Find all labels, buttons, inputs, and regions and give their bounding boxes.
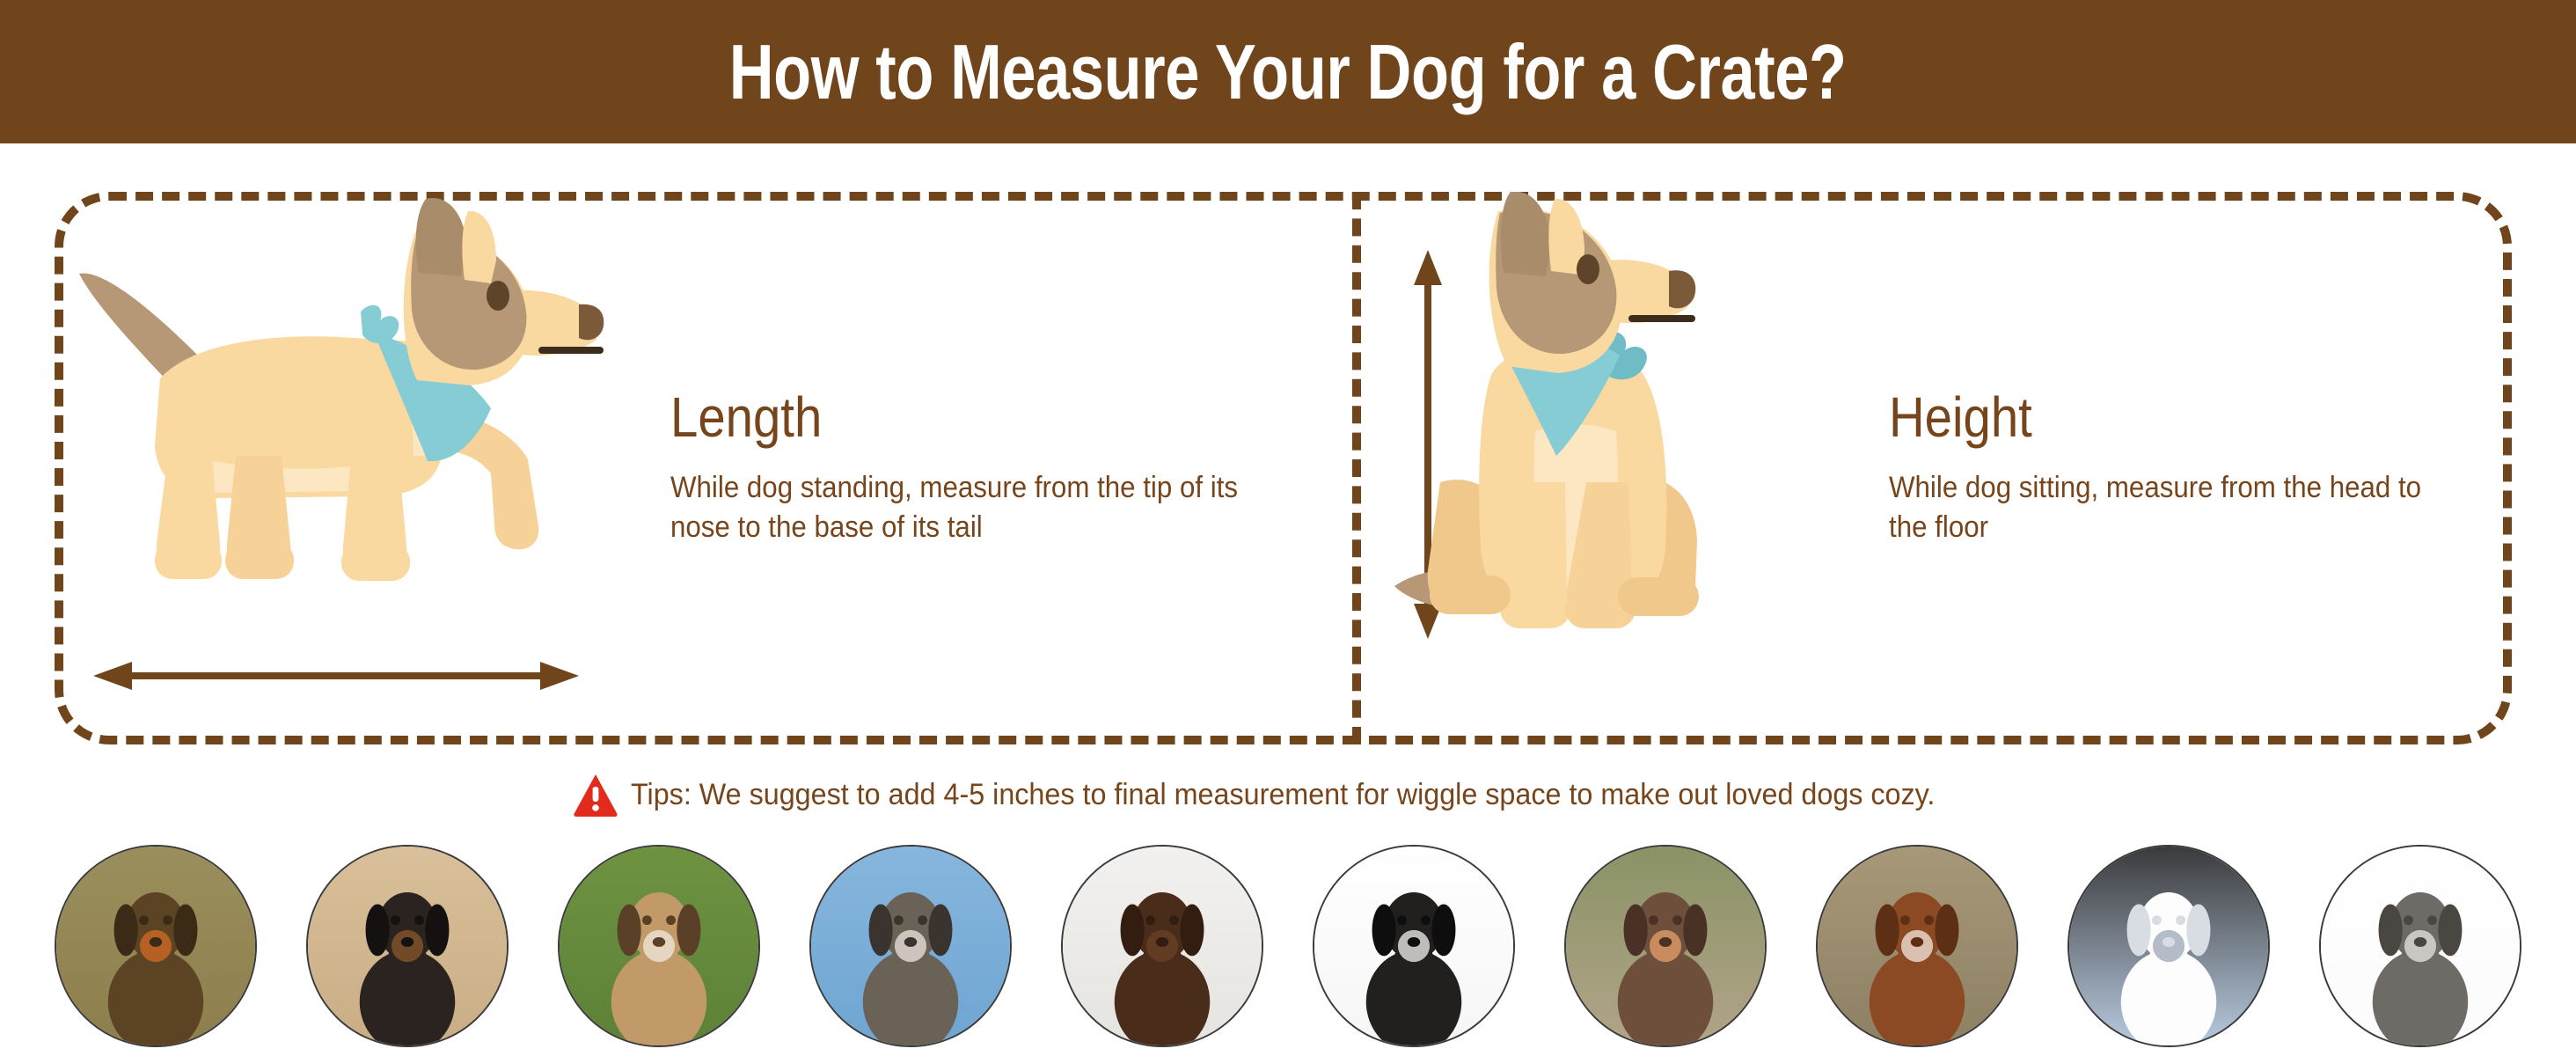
length-text-block: Length While dog standing, measure from … [670,192,1357,744]
sitting-dog-illustration [1379,192,1766,744]
tips-row: Tips: We suggest to add 4-5 inches to fi… [0,773,2576,817]
length-description: While dog standing, measure from the tip… [670,468,1302,547]
photo-circle-black-and-tan-coonhound[interactable] [306,845,509,1047]
warning-triangle-icon [573,773,618,817]
height-description: While dog sitting, measure from the head… [1889,468,2455,547]
photo-circle-american-pit-bull-terrier[interactable] [1816,845,2018,1047]
measurement-panel-height: Height While dog sitting, measure from t… [1361,192,2512,744]
photo-circle-american-eskimo-dog[interactable] [2067,845,2270,1047]
photo-circle-beagle[interactable] [558,845,760,1047]
photo-circle-chesapeake-bay-retriever[interactable] [1564,845,1767,1047]
photo-circle-boston-terrier[interactable] [1313,845,1515,1047]
dog-breed-photo-strip[interactable] [0,845,2576,1056]
photo-circle-great-dane[interactable] [2319,845,2521,1047]
length-heading: Length [670,389,1274,445]
photo-circle-american-water-spaniel[interactable] [1061,845,1263,1047]
page-header: How to Measure Your Dog for a Crate? [0,0,2576,143]
height-heading: Height [1889,389,2431,445]
height-text-block: Height While dog sitting, measure from t… [1889,192,2505,744]
page-title: How to Measure Your Dog for a Crate? [729,33,1847,111]
tips-text: Tips: We suggest to add 4-5 inches to fi… [631,780,1935,810]
photo-circle-plott-hound[interactable] [55,845,257,1047]
horizontal-double-arrow-icon [90,658,582,693]
photo-circle-alaskan-malamute[interactable] [809,845,1012,1047]
measurement-panel-length: Length While dog standing, measure from … [55,192,1357,744]
